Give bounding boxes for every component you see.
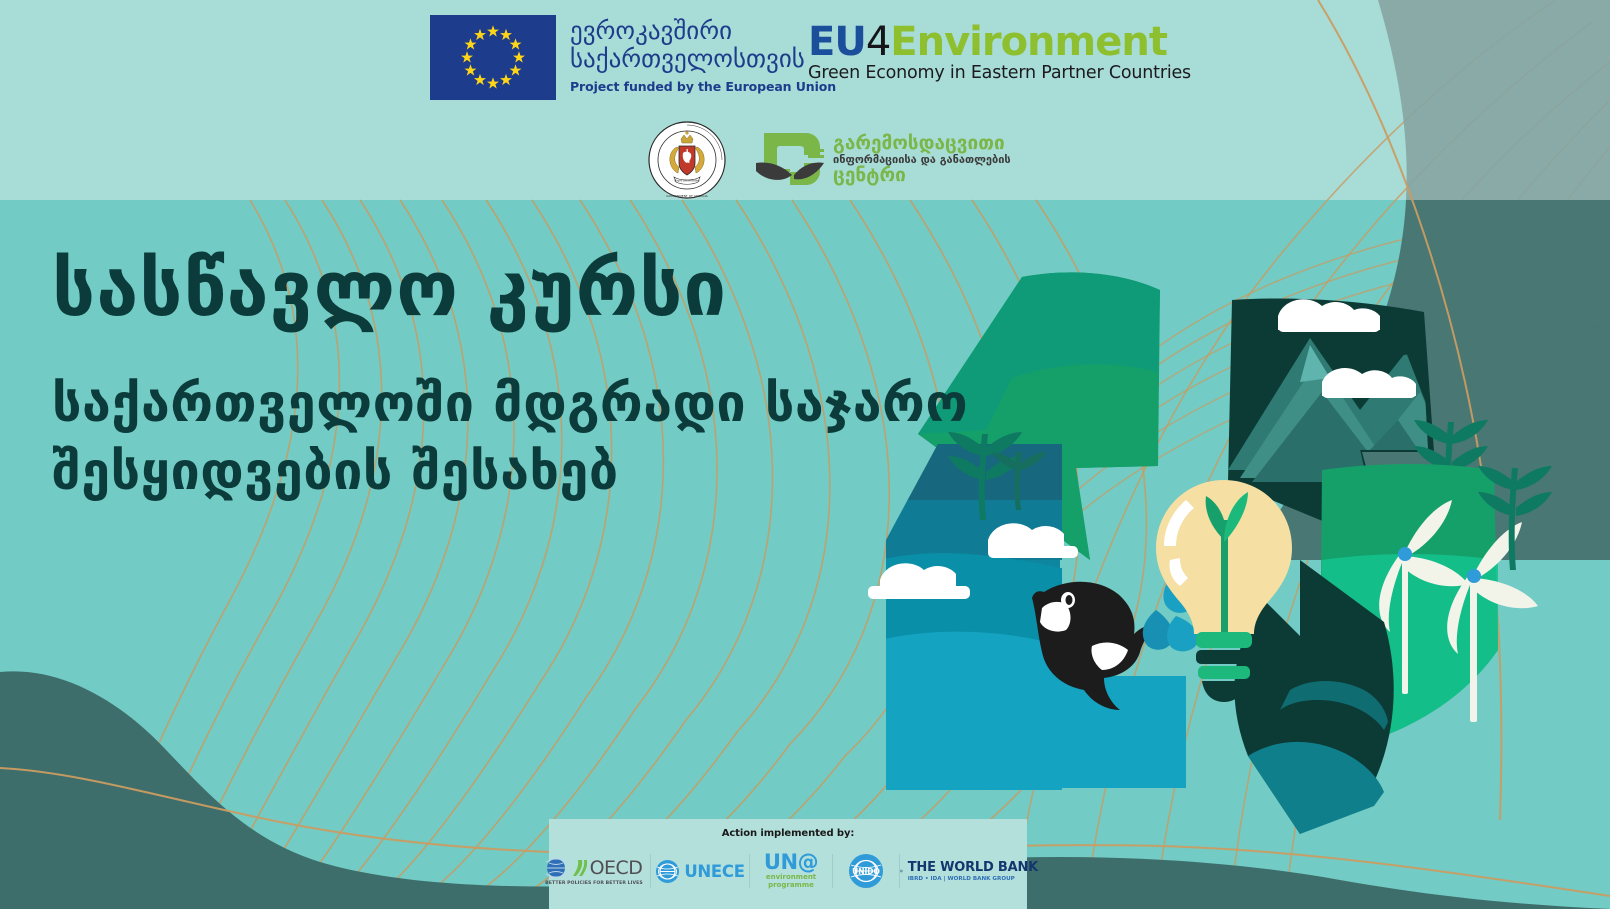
world-bank-logo: THE WORLD BANK IBRD • IDA | WORLD BANK G… [900,848,1038,894]
unido-emblem-icon: UNIDO [848,853,884,889]
environmental-information-education-centre-logo: გარემოსდაცვითი ინფორმაციისა და განათლები… [754,129,1011,191]
eiec-line1: გარემოსდაცვითი [833,134,1011,153]
eu-label-line2: საქართველოსთვის [570,45,836,73]
oecd-tagline: BETTER POLICIES FOR BETTER LIVES [545,881,643,886]
partner-logo-row: OECD BETTER POLICIES FOR BETTER LIVES UN… [549,844,1027,898]
unep-tagline: environment programme [750,873,832,889]
subtitle-line-2: შესყიდვების შესახებ [52,438,952,507]
implementing-partners-bar: Action implemented by: OECD BETTER POLIC… [549,819,1027,909]
georgia-partner-logos: GOVERNMENT OF GEORGIA ძალა ერთობაშია [648,121,1011,199]
page-subtitle: საქართველოში მდგრადი საჯარო შესყიდვების … [52,370,952,507]
world-bank-tagline: IBRD • IDA | WORLD BANK GROUP [908,876,1038,882]
eu4environment-wordmark: EU4Environment [808,22,1191,62]
unido-text: UNIDO [852,867,880,876]
page-title: სასწავლო კურსი [52,250,952,328]
unep-wordmark: UN@ [764,853,818,873]
european-union-flag-icon [430,15,556,100]
eu-funding-logo: ევროკავშირი საქართველოსთვის Project fund… [430,15,836,100]
eu4env-environment-text: Environment [890,19,1167,65]
oecd-wordmark: OECD [590,857,643,879]
world-bank-globe-icon [900,856,903,886]
unece-logo: UNECE [651,848,749,894]
oecd-logo: OECD BETTER POLICIES FOR BETTER LIVES [538,848,650,894]
footer-caption: Action implemented by: [549,819,1027,839]
oecd-globe-icon [546,857,568,879]
world-bank-wordmark: THE WORLD BANK IBRD • IDA | WORLD BANK G… [908,861,1038,882]
un-environment-programme-logo: UN@ environment programme [750,848,832,894]
unep-at-icon: @ [798,850,819,874]
unece-wordmark: UNECE [684,862,744,881]
poster-canvas: ევროკავშირი საქართველოსთვის Project fund… [0,0,1610,909]
eu-funding-text: ევროკავშირი საქართველოსთვის Project fund… [570,15,836,94]
unep-un-text: UN [764,850,798,874]
eiec-wordmark: გარემოსდაცვითი ინფორმაციისა და განათლები… [833,134,1011,187]
un-emblem-icon [655,859,680,884]
title-block: სასწავლო კურსი საქართველოში მდგრადი საჯა… [52,250,952,507]
eiec-line3: ცენტრი [833,166,1011,186]
eu-funding-note: Project funded by the European Union [570,79,836,94]
eu4env-four-text: 4 [866,19,890,65]
svg-text:GOVERNMENT OF GEORGIA: GOVERNMENT OF GEORGIA [666,194,708,198]
unido-logo: UNIDO [833,848,899,894]
georgia-government-emblem-icon: GOVERNMENT OF GEORGIA ძალა ერთობაშია [648,121,726,199]
eu4environment-tagline: Green Economy in Eastern Partner Countri… [808,63,1191,83]
eu-label-line1: ევროკავშირი [570,17,836,45]
eu4env-eu-text: EU [808,19,866,65]
svg-text:ძალა ერთობაშია: ძალა ერთობაშია [674,179,700,183]
eu4environment-logo: EU4Environment Green Economy in Eastern … [808,22,1191,83]
header-logo-band: ევროკავშირი საქართველოსთვის Project fund… [0,0,1610,200]
eiec-book-leaf-icon [754,129,826,191]
subtitle-line-1: საქართველოში მდგრადი საჯარო [52,370,952,439]
oecd-swoosh-icon [571,858,587,878]
world-bank-name: THE WORLD BANK [908,861,1038,874]
